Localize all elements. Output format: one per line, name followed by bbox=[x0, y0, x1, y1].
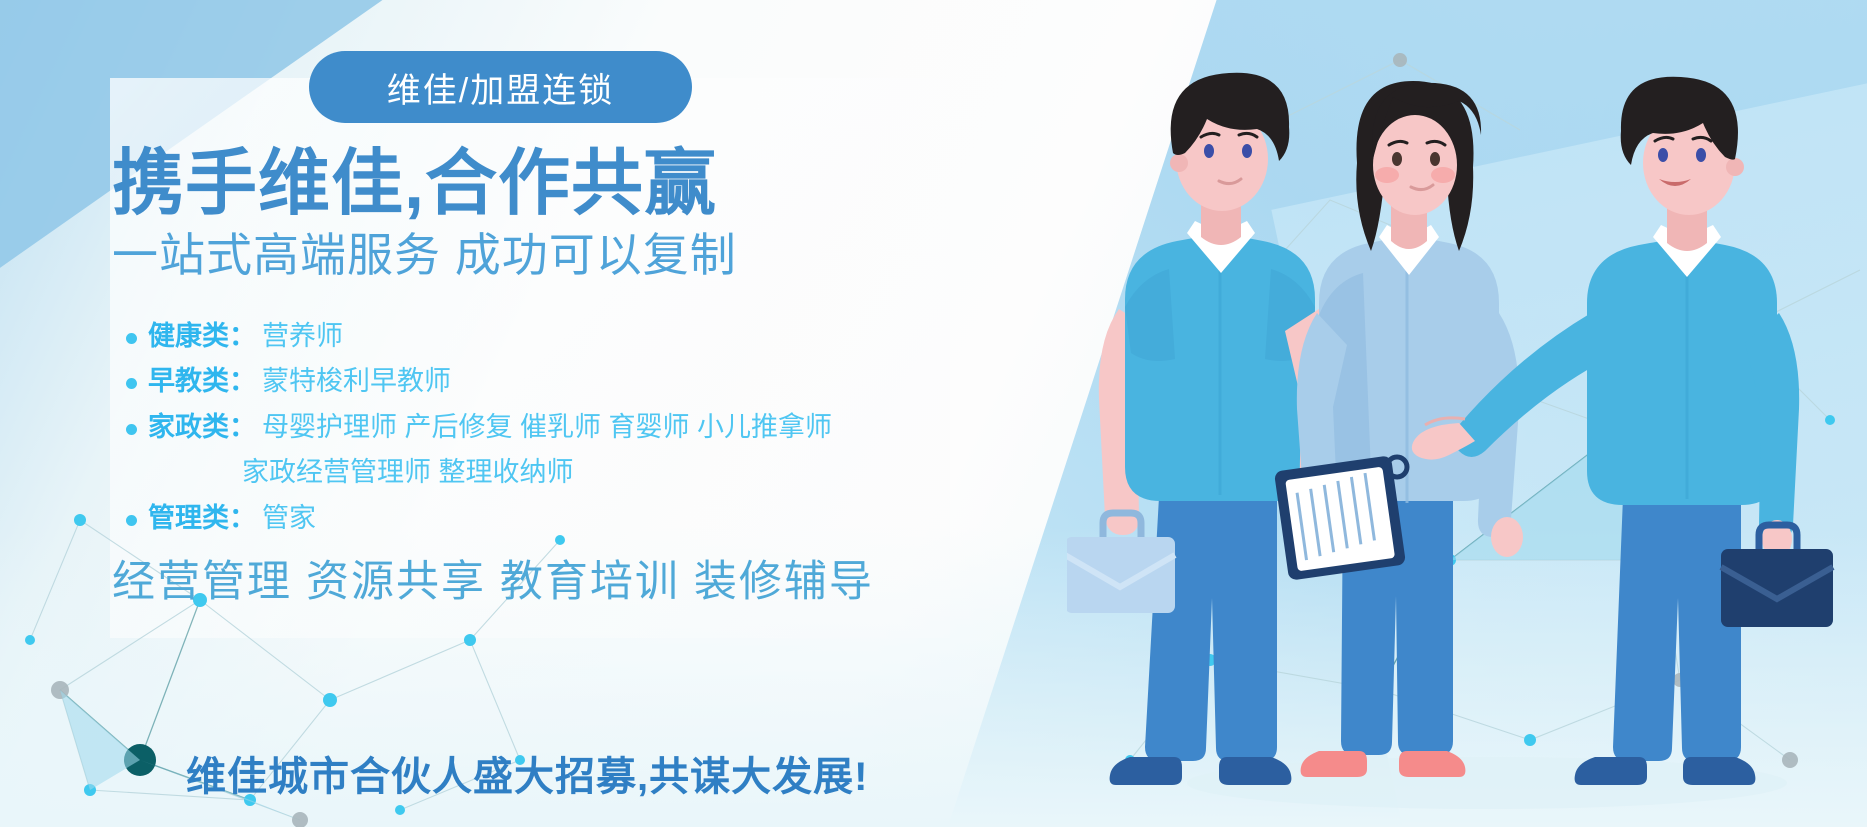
people-illustration bbox=[1067, 67, 1867, 827]
headline: 携手维佳,合作共赢 bbox=[112, 148, 717, 220]
category-items: 营养师 bbox=[262, 318, 343, 354]
bullet-dot-icon bbox=[126, 515, 137, 526]
promotional-banner: 维佳/加盟连锁 携手维佳,合作共赢 一站式高端服务 成功可以复制 健康类 ： 营… bbox=[0, 0, 1867, 827]
category-separator: ： bbox=[229, 318, 256, 354]
category-items: 母婴护理师 产后修复 催乳师 育婴师 小儿推拿师 bbox=[262, 409, 832, 445]
services-row: 经营管理 资源共享 教育培训 装修辅导 bbox=[112, 547, 874, 609]
brand-badge[interactable]: 维佳/加盟连锁 bbox=[309, 51, 692, 123]
list-item: 家政类 ： 母婴护理师 产后修复 催乳师 育婴师 小儿推拿师 bbox=[126, 409, 906, 445]
list-item: 管理类 ： 管家 bbox=[126, 500, 906, 536]
bullet-dot-icon bbox=[126, 333, 137, 344]
category-separator: ： bbox=[229, 409, 256, 445]
category-items: 蒙特梭利早教师 bbox=[262, 363, 451, 399]
category-items: 管家 bbox=[262, 500, 316, 536]
brand-badge-label: 维佳/加盟连锁 bbox=[387, 63, 614, 112]
category-separator: ： bbox=[229, 363, 256, 399]
category-list: 健康类 ： 营养师 早教类 ： 蒙特梭利早教师 家政类 ： 母婴护理师 产后修复… bbox=[126, 318, 906, 545]
category-label: 家政类 bbox=[148, 409, 229, 445]
bullet-dot-icon bbox=[126, 424, 137, 435]
category-label: 管理类 bbox=[148, 500, 229, 536]
figure-man-right bbox=[1412, 77, 1833, 785]
bullet-dot-icon bbox=[126, 378, 137, 389]
category-label: 健康类 bbox=[148, 318, 229, 354]
list-item: 早教类 ： 蒙特梭利早教师 bbox=[126, 363, 906, 399]
list-item-continuation: 家政经营管理师 整理收纳师 bbox=[126, 454, 906, 490]
list-item: 健康类 ： 营养师 bbox=[126, 318, 906, 354]
category-items-continued: 家政经营管理师 整理收纳师 bbox=[242, 454, 574, 490]
category-separator: ： bbox=[229, 500, 256, 536]
category-label: 早教类 bbox=[148, 363, 229, 399]
clipboard bbox=[1274, 455, 1407, 580]
figure-man-left bbox=[1067, 73, 1339, 785]
subheadline: 一站式高端服务 成功可以复制 bbox=[112, 232, 737, 278]
bottom-slogan: 维佳城市合伙人盛大招募,共谋大发展! bbox=[186, 744, 868, 802]
